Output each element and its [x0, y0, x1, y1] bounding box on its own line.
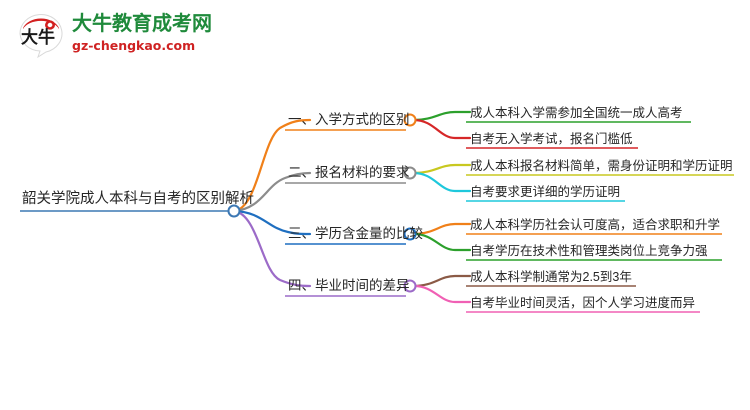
connector-branch-2-leaf-1: [414, 165, 470, 173]
connector-branch-1-leaf-2: [414, 120, 470, 138]
leaf-label-4-2[interactable]: 自考毕业时间灵活，因个人学习进度而异: [470, 295, 695, 311]
connector-branch-4-leaf-1: [414, 276, 470, 286]
connector-branch-1-leaf-1: [414, 112, 470, 120]
leaf-label-4-1[interactable]: 成人本科学制通常为2.5到3年: [470, 269, 632, 285]
connector-root-branch-4: [234, 211, 310, 286]
branch-label-4[interactable]: 四、毕业时间的差异: [288, 277, 410, 294]
leaf-label-3-1[interactable]: 成人本科学历社会认可度高，适合求职和升学: [470, 217, 720, 233]
root-topic-label[interactable]: 韶关学院成人本科与自考的区别解析: [22, 190, 254, 208]
branch-label-2[interactable]: 二、报名材料的要求: [288, 164, 410, 181]
connector-branch-4-leaf-2: [414, 286, 470, 302]
leaf-label-2-2[interactable]: 自考要求更详细的学历证明: [470, 184, 620, 200]
branch-label-3[interactable]: 三、学历含金量的比较: [288, 225, 423, 242]
leaf-label-1-1[interactable]: 成人本科入学需参加全国统一成人高考: [470, 105, 683, 121]
leaf-label-2-1[interactable]: 成人本科报名材料简单，需身份证明和学历证明: [470, 158, 733, 174]
leaf-label-1-2[interactable]: 自考无入学考试，报名门槛低: [470, 131, 633, 147]
branch-label-1[interactable]: 一、入学方式的区别: [288, 111, 410, 128]
connector-branch-2-leaf-2: [414, 173, 470, 191]
leaf-label-3-2[interactable]: 自考学历在技术性和管理类岗位上竞争力强: [470, 243, 708, 259]
